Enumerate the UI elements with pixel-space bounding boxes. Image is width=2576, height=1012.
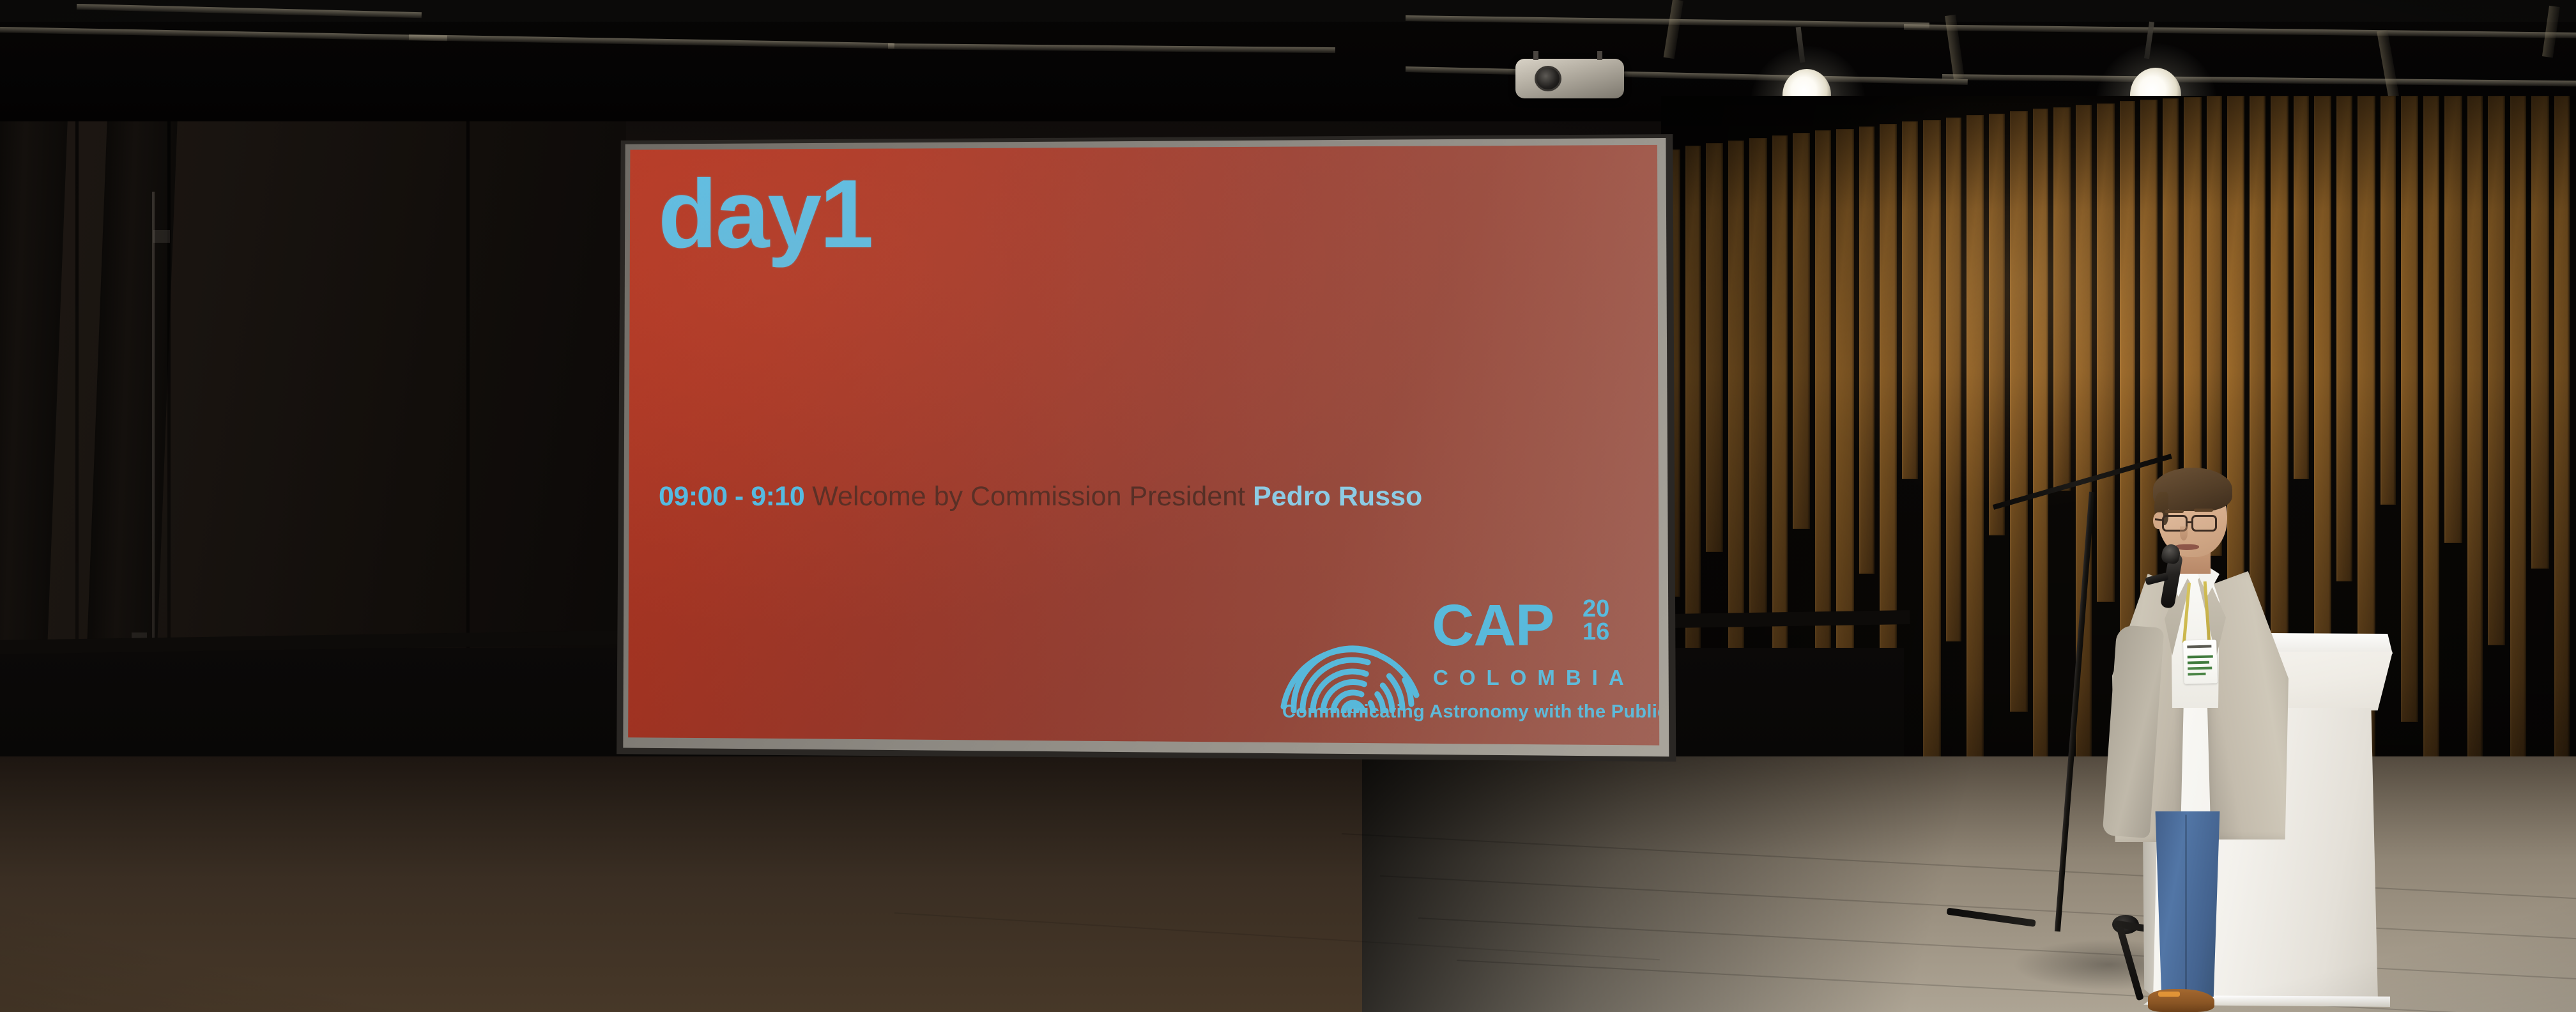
eyebrow-left: [2165, 510, 2184, 513]
cap-country: COLOMBIA: [1433, 666, 1635, 690]
projection-screen: day1 09:00 - 9:10 Welcome by Commission …: [623, 143, 1666, 754]
cap-year: 2016: [1583, 598, 1609, 643]
fingerprint-arcs-icon: [1280, 598, 1427, 713]
glasses-bridge: [2187, 521, 2193, 523]
speaker-person: [2108, 466, 2313, 1012]
jeans-seam: [2185, 815, 2187, 990]
jeans: [2149, 811, 2226, 997]
slide-schedule-line: 09:00 - 9:10 Welcome by Commission Presi…: [659, 482, 1422, 512]
slide-title: day1: [658, 165, 871, 263]
cap-tagline: Communicating Astronomy with the Public: [1282, 701, 1666, 723]
cap-2016-logo: CAP 2016 COLOMBIA Communicating Astronom…: [1280, 589, 1637, 736]
nose: [2180, 526, 2188, 540]
schedule-description: Welcome by Commission President: [812, 481, 1245, 512]
schedule-speaker: Pedro Russo: [1253, 481, 1422, 512]
shoe-laces: [2158, 992, 2180, 997]
cap-acronym: CAP: [1432, 599, 1554, 652]
glasses-lens-right: [2191, 515, 2217, 532]
conference-hall-photo: day1 09:00 - 9:10 Welcome by Commission …: [0, 0, 2576, 1012]
eyebrow-right: [2194, 509, 2213, 512]
schedule-time: 09:00 - 9:10: [659, 481, 804, 512]
conference-badge: [2183, 640, 2218, 684]
ceiling-projector: [1515, 59, 1624, 98]
